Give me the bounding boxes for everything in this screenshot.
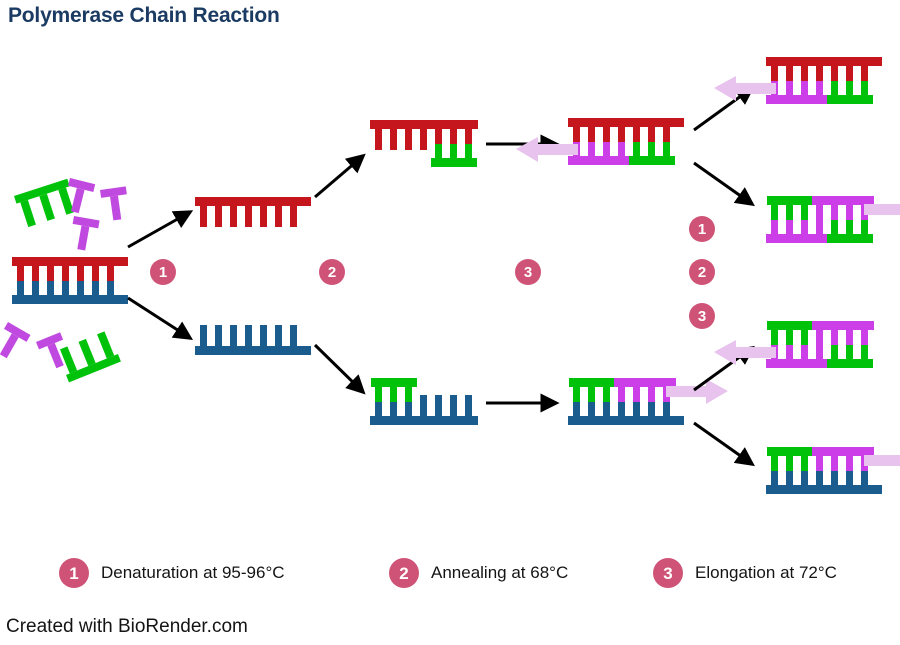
legend-label-denaturation: Denaturation at 95-96°C	[101, 563, 285, 583]
legend-item-annealing: 2 Annealing at 68°C	[389, 558, 568, 588]
arrow-product-2	[694, 163, 752, 204]
free-nucleotide-3	[68, 216, 99, 252]
arrow-anneal-down	[315, 345, 363, 392]
step-badge-elongation-inline: 3	[515, 259, 541, 285]
legend-badge-2: 2	[389, 558, 419, 588]
step-badge-cycle-denaturation: 1	[689, 216, 715, 242]
product-4	[766, 447, 900, 494]
legend-item-elongation: 3 Elongation at 72°C	[653, 558, 837, 588]
step-badge-annealing-inline: 2	[319, 259, 345, 285]
legend-label-elongation: Elongation at 72°C	[695, 563, 837, 583]
step-badge-cycle-elongation: 3	[689, 303, 715, 329]
legend-badge-3: 3	[653, 558, 683, 588]
denatured-red-strand	[195, 197, 311, 227]
free-primer-green-2	[56, 330, 121, 383]
legend-item-denaturation: 1 Denaturation at 95-96°C	[59, 558, 285, 588]
product-2	[766, 196, 900, 243]
arrow-anneal-up	[315, 156, 363, 197]
free-primer-green-1	[14, 179, 78, 229]
pcr-diagram-canvas: Polymerase Chain Reaction Created with B…	[0, 0, 900, 645]
arrow-product-1	[694, 88, 752, 130]
diagram-artwork: .red { fill:#c4161c; } .blue { fill:#1b5…	[0, 0, 900, 645]
free-nucleotide-2	[100, 186, 130, 221]
step-badge-denaturation-inline: 1	[150, 259, 176, 285]
product-3	[714, 321, 874, 368]
elongating-red-template	[516, 118, 684, 165]
arrow-denature-down	[128, 298, 190, 338]
denatured-blue-strand	[195, 325, 311, 355]
arrow-product-4	[694, 423, 752, 464]
template-dsdna	[12, 257, 128, 304]
annealed-red-with-green-primer	[370, 120, 478, 167]
legend-label-annealing: Annealing at 68°C	[431, 563, 568, 583]
legend-badge-1: 1	[59, 558, 89, 588]
step-badge-cycle-annealing: 2	[689, 259, 715, 285]
arrow-denature-up	[128, 212, 190, 247]
annealed-blue-with-green-primer	[370, 378, 478, 425]
free-nucleotide-4	[0, 322, 31, 363]
elongating-blue-template	[568, 378, 728, 425]
